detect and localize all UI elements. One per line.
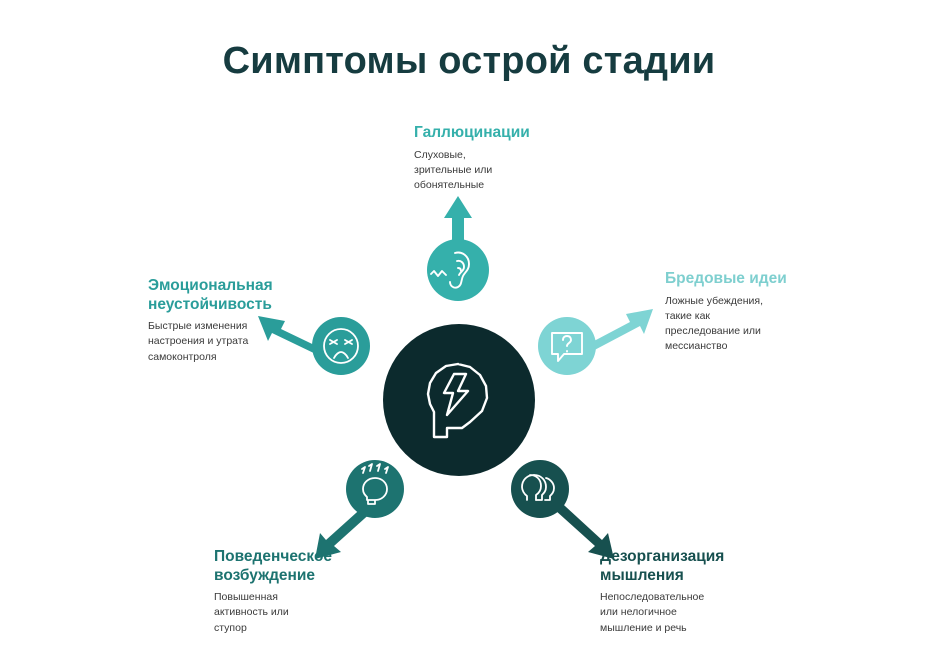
node-heading-agitation: Поведенческое возбуждение — [214, 548, 394, 585]
node-icon-emotional[interactable] — [312, 317, 370, 375]
node-desc-emotional: Быстрые изменения настроения и утрата са… — [148, 319, 308, 365]
node-desc-hallucinations: Слуховые, зрительные или обонятельные — [414, 148, 594, 194]
node-text-delusions: Бредовые идеи Ложные убеждения, такие ка… — [665, 270, 845, 354]
node-heading-emotional: Эмоциональная неустойчивость — [148, 277, 308, 314]
hallucinations-circle — [427, 239, 489, 301]
node-icon-hallucinations[interactable] — [427, 239, 489, 301]
node-desc-disorganized: Непоследовательное или нелогичное мышлен… — [600, 590, 790, 636]
agitation-circle — [346, 460, 404, 518]
node-heading-delusions: Бредовые идеи — [665, 270, 845, 289]
infographic-canvas: Симптомы острой стадии — [0, 0, 938, 665]
node-text-disorganized: Дезорганизация мышления Непоследовательн… — [600, 548, 790, 636]
node-text-hallucinations: Галлюцинации Слуховые, зрительные или об… — [414, 124, 594, 193]
emotional-circle — [312, 317, 370, 375]
node-text-agitation: Поведенческое возбуждение Повышенная акт… — [214, 548, 394, 636]
node-desc-agitation: Повышенная активность или ступор — [214, 590, 394, 636]
node-desc-delusions: Ложные убеждения, такие как преследовани… — [665, 294, 845, 355]
node-icon-delusions[interactable] — [538, 317, 596, 375]
node-heading-hallucinations: Галлюцинации — [414, 124, 594, 143]
node-icon-disorganized[interactable] — [511, 460, 569, 518]
node-heading-disorganized: Дезорганизация мышления — [600, 548, 790, 585]
node-icon-agitation[interactable] — [346, 460, 404, 518]
center-node[interactable] — [383, 324, 535, 476]
node-text-emotional: Эмоциональная неустойчивость Быстрые изм… — [148, 277, 308, 365]
